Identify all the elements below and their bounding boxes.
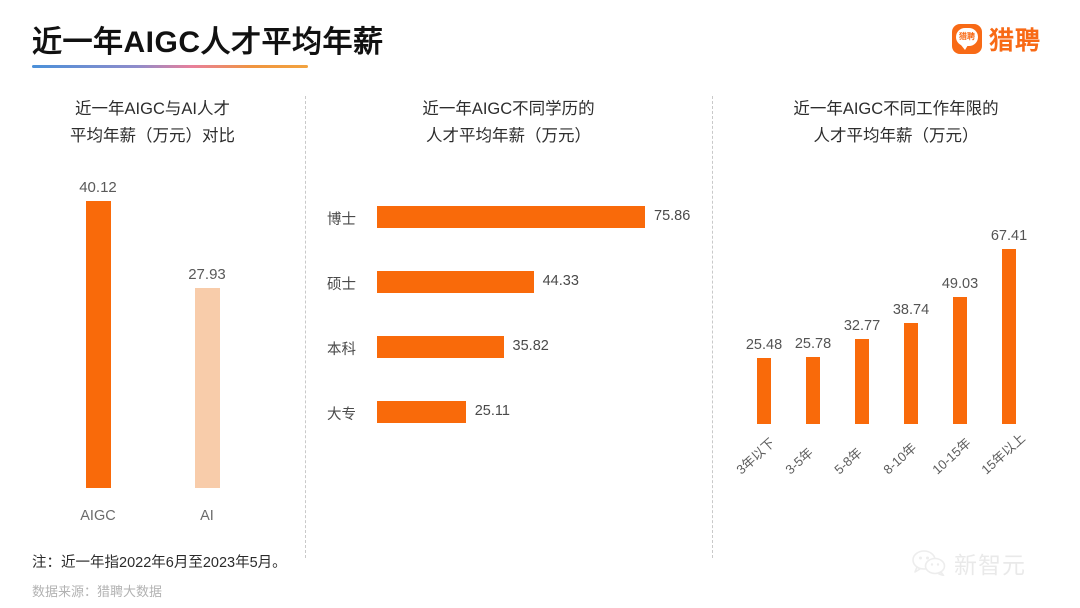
education-bar-value: 25.11 — [475, 403, 510, 419]
bar-label-ai: AI — [177, 508, 237, 524]
experience-bar-value: 67.41 — [985, 228, 1033, 244]
education-bar-label: 本科 — [327, 338, 371, 359]
experience-bar-rect — [855, 339, 869, 424]
experience-bar-rect — [1002, 249, 1016, 424]
education-bar-row: 硕士44.33 — [305, 271, 712, 293]
experience-bar-rect — [806, 357, 820, 424]
experience-bar-value: 49.03 — [936, 276, 984, 292]
education-bar-rect — [377, 271, 534, 293]
liepin-bubble-glyph: 猎聘 — [956, 28, 978, 46]
experience-bar-rect — [953, 297, 967, 424]
bar-value-aigc: 40.12 — [68, 179, 128, 196]
page-header: 近一年AIGC人才平均年薪 猎聘 猎聘 — [0, 0, 1080, 88]
bar-value-ai: 27.93 — [177, 266, 237, 283]
education-bar-value: 75.86 — [654, 208, 690, 224]
experience-axis-label: 5-8年 — [829, 443, 865, 478]
bar-label-aigc: AIGC — [68, 508, 128, 524]
experience-axis-label: 3年以下 — [731, 433, 778, 478]
footnote-period: 注：近一年指2022年6月至2023年5月。 — [32, 551, 287, 572]
experience-bar-value: 25.78 — [789, 336, 837, 352]
chart-salary-by-experience: 25.483年以下25.783-5年32.775-8年38.748-10年49.… — [712, 196, 1080, 496]
education-bar-label: 博士 — [327, 208, 371, 229]
panel-salary-by-experience: 近一年AIGC不同工作年限的 人才平均年薪（万元） 25.483年以下25.78… — [712, 96, 1080, 150]
chart-salary-by-education: 博士75.86硕士44.33本科35.82大专25.11 — [305, 206, 712, 496]
panel-aigc-vs-ai: 近一年AIGC与AI人才 平均年薪（万元）对比 40.12 AIGC 27.93… — [0, 96, 305, 150]
title-underline-gradient — [32, 65, 308, 68]
education-bar-label: 硕士 — [327, 273, 371, 294]
bar-rect-ai — [195, 288, 220, 488]
panel-title-experience: 近一年AIGC不同工作年限的 人才平均年薪（万元） — [712, 96, 1080, 150]
page-title: 近一年AIGC人才平均年薪 — [32, 17, 384, 61]
experience-axis-label: 15年以上 — [976, 428, 1028, 478]
education-bar-rect — [377, 206, 645, 228]
watermark: 新智元 — [912, 546, 1026, 580]
liepin-brand-name: 猎聘 — [989, 21, 1041, 57]
experience-bar-rect — [904, 323, 918, 424]
education-bar-value: 44.33 — [543, 273, 579, 289]
education-bar-value: 35.82 — [513, 338, 549, 354]
watermark-text: 新智元 — [954, 546, 1026, 580]
wechat-icon — [912, 550, 946, 576]
liepin-logo: 猎聘 猎聘 — [952, 21, 1041, 57]
liepin-logo-icon: 猎聘 — [952, 24, 982, 54]
education-bar-row: 大专25.11 — [305, 401, 712, 423]
education-bar-label: 大专 — [327, 403, 371, 424]
chart-aigc-vs-ai: 40.12 AIGC 27.93 AI — [0, 192, 305, 532]
experience-axis-label: 10-15年 — [927, 433, 974, 478]
experience-axis-label: 3-5年 — [780, 443, 816, 478]
experience-axis-label: 8-10年 — [878, 438, 920, 478]
bar-rect-aigc — [86, 201, 111, 488]
education-bar-row: 博士75.86 — [305, 206, 712, 228]
panel-salary-by-education: 近一年AIGC不同学历的 人才平均年薪（万元） 博士75.86硕士44.33本科… — [305, 96, 712, 150]
experience-bar-value: 25.48 — [740, 337, 788, 353]
education-bar-rect — [377, 336, 504, 358]
education-bar-row: 本科35.82 — [305, 336, 712, 358]
education-bar-rect — [377, 401, 466, 423]
panel-title-education: 近一年AIGC不同学历的 人才平均年薪（万元） — [305, 96, 712, 150]
experience-bar-rect — [757, 358, 771, 424]
experience-bar-value: 32.77 — [838, 318, 886, 334]
panel-title-aigc-vs-ai: 近一年AIGC与AI人才 平均年薪（万元）对比 — [0, 96, 305, 150]
experience-bar-value: 38.74 — [887, 302, 935, 318]
footnote-source: 数据来源：猎聘大数据 — [32, 581, 162, 600]
